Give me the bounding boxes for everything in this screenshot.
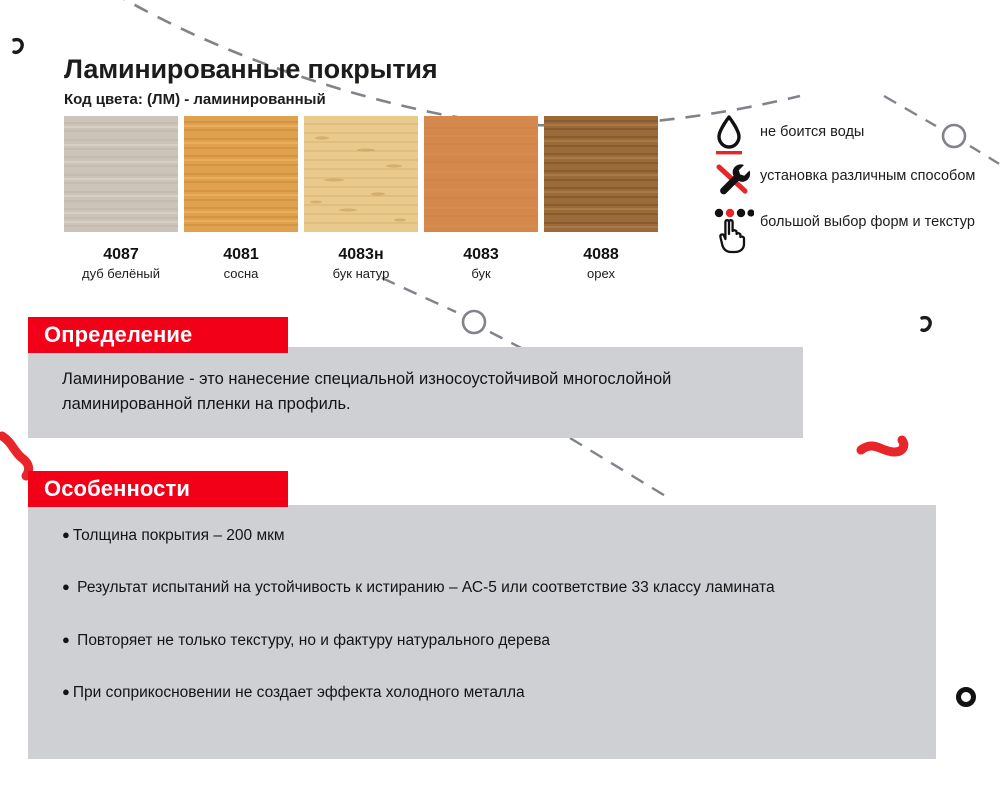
swatch-code: 4088 <box>544 246 658 264</box>
feature-bullet: ● Повторяет не только текстуру, но и фак… <box>62 630 912 652</box>
swatch-code: 4083н <box>304 246 418 264</box>
swatch-name: дуб белёный <box>64 266 178 281</box>
wood-grain-icon <box>304 116 418 232</box>
comma-mark-right <box>922 318 930 331</box>
swatch-chip-4087[interactable] <box>64 116 178 232</box>
bullet-marker: ● <box>62 579 70 594</box>
swatch-name: бук натур <box>304 266 418 281</box>
section-tab-definition: Определение <box>28 317 288 353</box>
page-title: Ламинированные покрытия <box>64 54 437 85</box>
bullet-marker: ● <box>62 527 70 542</box>
circle-node-middle <box>463 311 485 333</box>
feature-bullet-text: Результат испытаний на устойчивость к ис… <box>77 579 774 596</box>
feature-bullet-text: При соприкосновении не создает эффекта х… <box>73 684 525 701</box>
color-swatch-row: 4087 дуб белёный 4081 <box>64 116 658 281</box>
icon-feature-label: установка различным способом <box>760 162 975 184</box>
features-panel: ●Толщина покрытия – 200 мкм ● Результат … <box>28 505 936 759</box>
icon-feature-list: не боится воды установка различным спосо… <box>714 114 984 260</box>
icon-feature-row: не боится воды <box>714 114 984 156</box>
infographic-page: Ламинированные покрытия Код цвета: (ЛМ) … <box>0 0 1000 800</box>
dashed-segment-middle-a <box>382 278 456 312</box>
icon-feature-label: не боится воды <box>760 114 864 140</box>
swatch-name: бук <box>424 266 538 281</box>
dashed-segment-middle-c <box>570 438 672 500</box>
tools-icon-glyph <box>714 162 752 196</box>
swatch-item[interactable]: 4088 орех <box>544 116 658 281</box>
swatch-name: сосна <box>184 266 298 281</box>
red-squiggle-left <box>2 436 29 476</box>
feature-bullet-text: Толщина покрытия – 200 мкм <box>73 527 285 544</box>
bullet-marker: ● <box>62 632 70 647</box>
section-tab-features: Особенности <box>28 471 288 507</box>
water-drop-icon-glyph <box>714 114 744 156</box>
hand-pointer-icon <box>714 208 760 254</box>
feature-bullet: ●При соприкосновении не создает эффекта … <box>62 682 912 704</box>
swatch-item[interactable]: 4087 дуб белёный <box>64 116 178 281</box>
wood-grain-icon <box>64 116 178 232</box>
water-drop-icon <box>714 114 760 156</box>
wood-grain-icon <box>424 116 538 232</box>
definition-panel: Ламинирование - это нанесение специально… <box>28 347 803 438</box>
feature-bullet: ●Толщина покрытия – 200 мкм <box>62 525 912 547</box>
swatch-item[interactable]: 4081 сосна <box>184 116 298 281</box>
swatch-chip-4088[interactable] <box>544 116 658 232</box>
red-squiggle-right <box>861 440 904 452</box>
swatch-chip-4083[interactable] <box>424 116 538 232</box>
swatch-code: 4081 <box>184 246 298 264</box>
swatch-name: орех <box>544 266 658 281</box>
swatch-chip-4081[interactable] <box>184 116 298 232</box>
icon-feature-row: большой выбор форм и текстур <box>714 208 984 254</box>
icon-feature-row: установка различным способом <box>714 162 984 202</box>
tools-icon <box>714 162 760 196</box>
wood-grain-icon <box>184 116 298 232</box>
swatch-item[interactable]: 4083н бук натур <box>304 116 418 281</box>
hand-pointer-icon-glyph <box>714 208 754 254</box>
definition-text: Ламинирование - это нанесение специально… <box>62 367 762 417</box>
feature-bullet-text: Повторяет не только текстуру, но и факту… <box>77 632 550 649</box>
feature-bullet: ● Результат испытаний на устойчивость к … <box>62 577 912 599</box>
page-header: Ламинированные покрытия Код цвета: (ЛМ) … <box>64 54 437 108</box>
swatch-item[interactable]: 4083 бук <box>424 116 538 281</box>
wood-grain-icon <box>544 116 658 232</box>
page-subtitle: Код цвета: (ЛМ) - ламинированный <box>64 91 437 108</box>
icon-feature-label: большой выбор форм и текстур <box>760 208 975 230</box>
bullet-marker: ● <box>62 684 70 699</box>
swatch-chip-4083n[interactable] <box>304 116 418 232</box>
swatch-code: 4083 <box>424 246 538 264</box>
ring-dot-bottom-right <box>959 690 974 705</box>
comma-mark-top-left <box>14 40 22 53</box>
swatch-code: 4087 <box>64 246 178 264</box>
